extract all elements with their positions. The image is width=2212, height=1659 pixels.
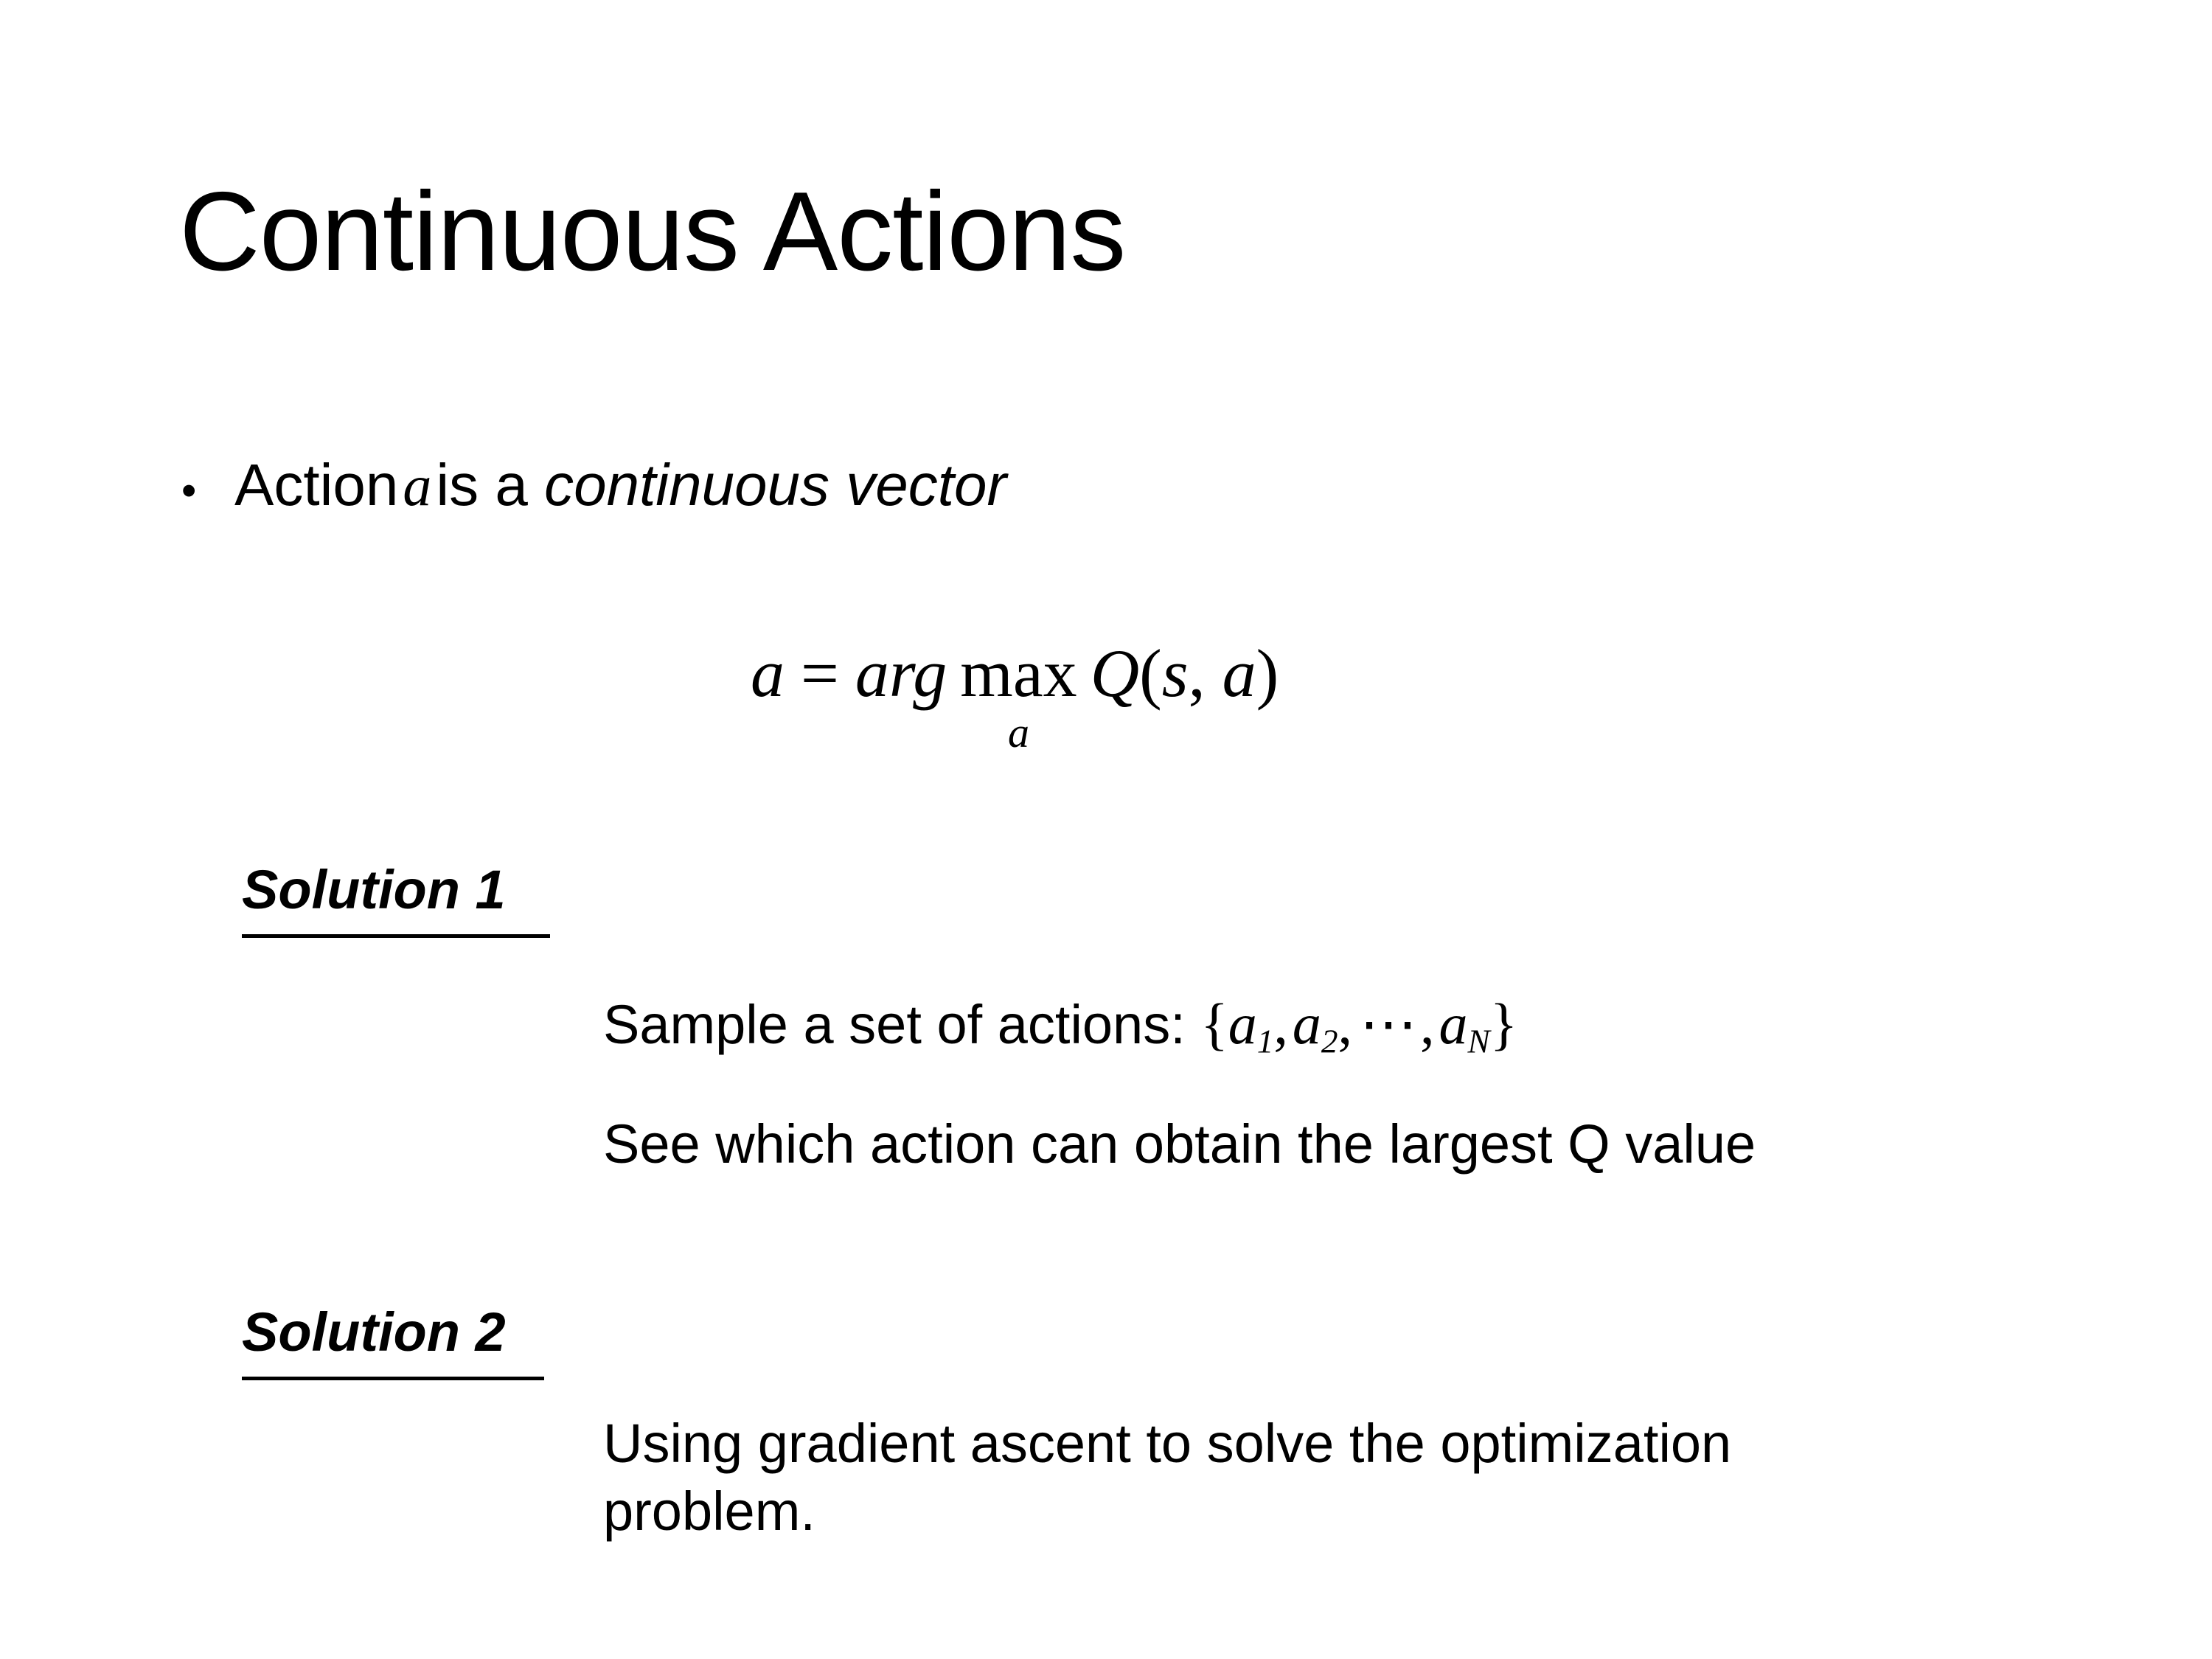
action-set-notation: {a1,a2,⋯,aN} [1200, 992, 1517, 1056]
bullet-variable-a: a [398, 453, 436, 518]
solution-1-underline-rule [242, 934, 550, 938]
set-item-2-subscript: 2 [1321, 1023, 1338, 1060]
solution-2-gradient-ascent-line: Using gradient ascent to solve the optim… [603, 1410, 1812, 1545]
solution-2-heading-label: Solution 2 [242, 1301, 506, 1363]
set-open-brace: { [1200, 992, 1228, 1056]
page-title: Continuous Actions [179, 175, 1125, 288]
solution-1-heading-label: Solution 1 [242, 859, 506, 920]
bullet-middle-text: is a [436, 452, 528, 518]
slide-canvas: Continuous Actions • Actionais a continu… [0, 0, 2212, 1659]
equation-open-paren: ( [1139, 634, 1162, 712]
bullet-item-action: • Actionais a continuous vector [181, 451, 1006, 519]
bullet-item-label: Actionais a continuous vector [234, 451, 1006, 519]
set-item-n-subscript: N [1468, 1023, 1490, 1060]
set-ellipsis: ⋯ [1357, 992, 1420, 1056]
solution-1-heading: Solution 1 [242, 858, 550, 938]
sample-actions-text: Sample a set of actions: [603, 994, 1186, 1055]
equation-equals-sign: = [785, 634, 855, 712]
set-item-1: a [1228, 992, 1257, 1056]
bullet-prefix-text: Action [234, 452, 398, 518]
equation-q-function: Q [1085, 634, 1139, 712]
bullet-emphasis-text: continuous vector [544, 452, 1006, 518]
equation-max-operator-group: max a [960, 639, 1077, 754]
set-item-n: a [1439, 992, 1468, 1056]
solution-1-largest-q-line: See which action can obtain the largest … [603, 1110, 1756, 1179]
equation-lhs: a [751, 634, 785, 712]
solution-2-underline-rule [242, 1377, 544, 1380]
set-item-2: a [1293, 992, 1321, 1056]
solution-2-heading: Solution 2 [242, 1301, 544, 1380]
equation-state-arg: s [1162, 634, 1189, 712]
set-close-brace: } [1490, 992, 1517, 1056]
equation-close-paren: ) [1256, 634, 1279, 712]
equation-arg-operator: arg [855, 634, 947, 712]
equation-max-label: max [960, 639, 1077, 707]
equation-arg-comma: , [1189, 634, 1206, 712]
solution-1-sample-actions-line: Sample a set of actions: {a1,a2,⋯,aN} [603, 988, 1517, 1060]
set-item-1-subscript: 1 [1257, 1023, 1274, 1060]
set-comma-1: , [1273, 992, 1293, 1056]
bullet-dot-icon: • [181, 470, 234, 512]
equation-max-subscript: a [1008, 712, 1029, 754]
set-comma-3: , [1420, 992, 1439, 1056]
set-comma-2: , [1338, 992, 1357, 1056]
argmax-equation: a = arg max a Q(s, a) [751, 634, 1279, 754]
equation-action-arg: a [1222, 634, 1256, 712]
